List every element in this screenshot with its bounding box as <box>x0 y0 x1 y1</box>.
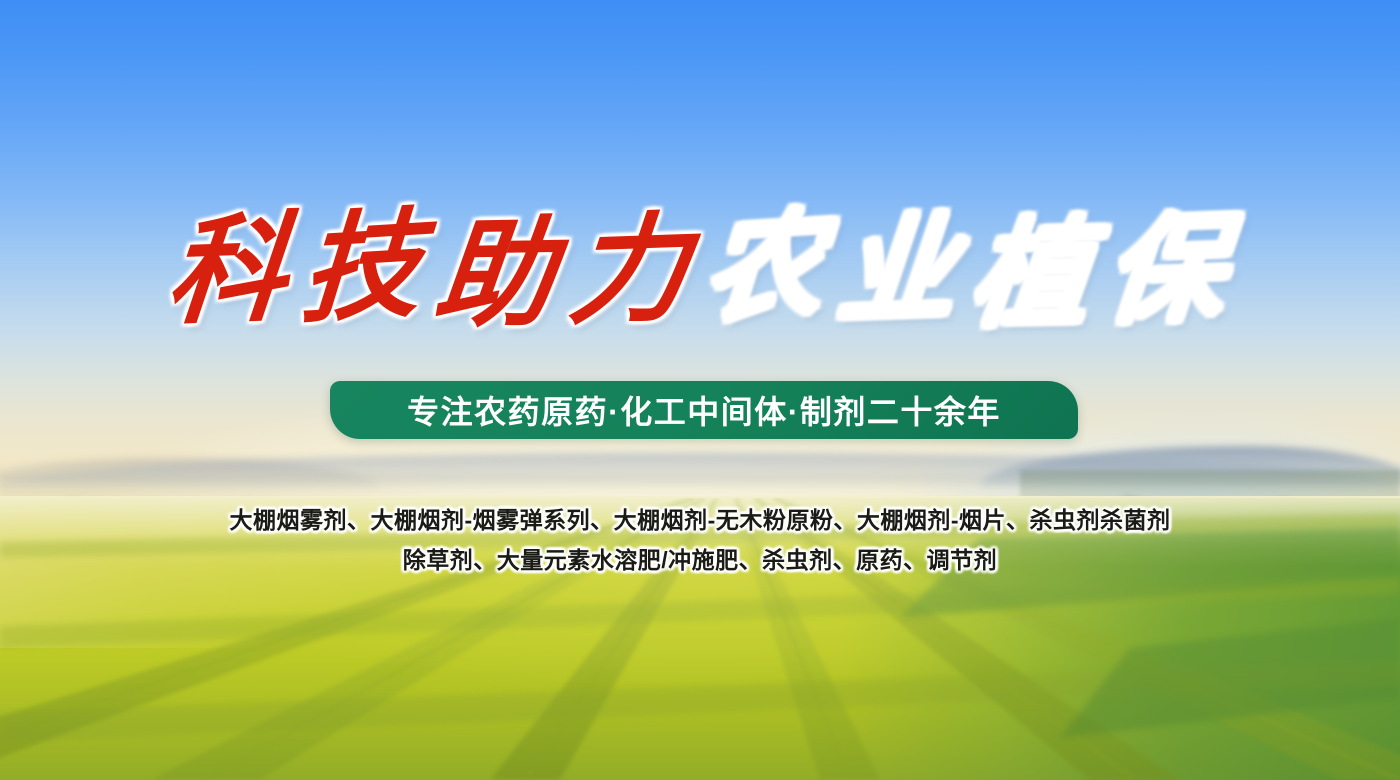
subtitle-pill: 专注农药原药·化工中间体·制剂二十余年 <box>330 381 1078 439</box>
headline-char-7: 植 <box>965 209 1105 343</box>
headline-char-4: 力 <box>564 204 702 340</box>
product-line-1: 大棚烟雾剂、大棚烟剂-烟雾弹系列、大棚烟剂-无木粉原粉、大棚烟剂-烟片、杀虫剂杀… <box>0 500 1400 540</box>
product-list: 大棚烟雾剂、大棚烟剂-烟雾弹系列、大棚烟剂-无木粉原粉、大棚烟剂-烟片、杀虫剂杀… <box>0 500 1400 580</box>
headline-char-2: 技 <box>298 199 433 339</box>
headline: 科技助力农业植保 <box>0 206 1400 338</box>
product-line-2: 除草剂、大量元素水溶肥/冲施肥、杀虫剂、原药、调节剂 <box>0 540 1400 580</box>
headline-char-8: 保 <box>1100 204 1238 340</box>
headline-char-6: 业 <box>832 204 970 340</box>
promo-banner: 科技助力农业植保 专注农药原药·化工中间体·制剂二十余年 大棚烟雾剂、大棚烟剂-… <box>0 0 1400 780</box>
headline-char-5: 农 <box>700 199 835 339</box>
subtitle-text: 专注农药原药·化工中间体·制剂二十余年 <box>407 387 1001 433</box>
headline-char-1: 科 <box>162 204 300 340</box>
headline-char-3: 助 <box>428 209 568 343</box>
